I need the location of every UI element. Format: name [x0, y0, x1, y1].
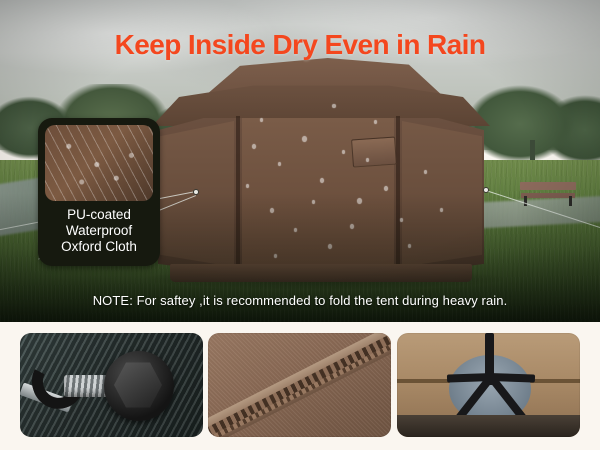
bench-backrest: [520, 182, 576, 190]
badge-line-1: PU-coated: [45, 207, 153, 223]
steel-bolt-hardware-thumb[interactable]: [20, 333, 203, 437]
support-pole: [491, 373, 535, 383]
tent-floor-strip: [397, 415, 580, 437]
tent-skirt: [170, 264, 472, 282]
tent-seam: [236, 116, 240, 274]
reinforced-seam-thumb[interactable]: [208, 333, 391, 437]
hero-photo: Keep Inside Dry Even in Rain PU-coated W…: [0, 0, 600, 322]
bench-seat: [521, 193, 575, 198]
support-pole: [447, 373, 491, 383]
headline-text: Keep Inside Dry Even in Rain: [0, 29, 600, 61]
park-bench: [520, 182, 576, 206]
tent-panel-right: [402, 118, 482, 270]
badge-line-3: Oxford Cloth: [45, 239, 153, 255]
badge-text-block: PU-coated Waterproof Oxford Cloth: [45, 207, 153, 254]
waterproof-badge: PU-coated Waterproof Oxford Cloth: [38, 118, 160, 266]
guy-line-anchor: [483, 187, 489, 193]
water-beading-icon: [45, 125, 153, 201]
guy-line-anchor: [193, 189, 199, 195]
badge-line-2: Waterproof: [45, 223, 153, 239]
ceiling-hub-thumb[interactable]: [397, 333, 580, 437]
thumbnail-row: [0, 322, 600, 450]
gazebo-tent: [152, 58, 490, 286]
product-feature-image: Keep Inside Dry Even in Rain PU-coated W…: [0, 0, 600, 450]
bench-leg: [569, 196, 572, 206]
tent-window-flap: [351, 136, 397, 167]
tent-seam: [396, 116, 400, 274]
note-text: NOTE: For saftey ,it is recommended to f…: [0, 293, 600, 308]
